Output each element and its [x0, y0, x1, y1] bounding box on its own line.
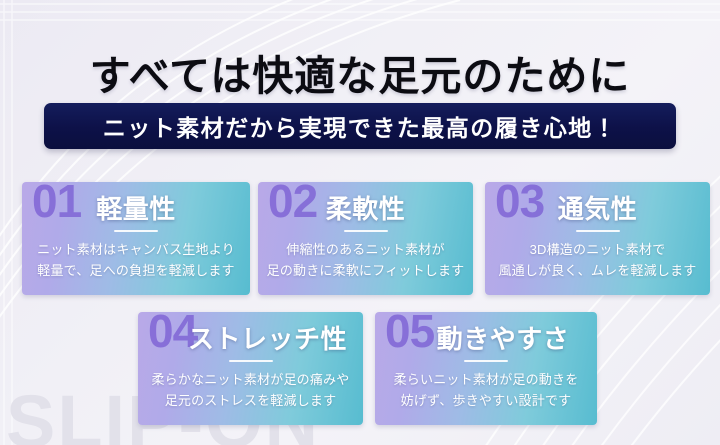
- title-divider: [229, 360, 273, 362]
- feature-card-header: 01 軽量性: [22, 182, 250, 229]
- feature-card-body-line: ニット素材はキャンバス生地より: [30, 239, 242, 260]
- feature-card-body: 3D構造のニット素材で 風通しが良く、ムレを軽減します: [485, 239, 710, 281]
- feature-card-header: 04 ストレッチ性: [138, 312, 363, 359]
- title-divider: [114, 230, 158, 232]
- feature-card-body-line: 風通しが良く、ムレを軽減します: [493, 260, 702, 281]
- feature-card: 04 ストレッチ性 柔らかなニット素材が足の痛みや 足元のストレスを軽減します: [138, 312, 363, 425]
- feature-card: 01 軽量性 ニット素材はキャンバス生地より 軽量で、足への負担を軽減します: [22, 182, 250, 295]
- feature-card-header: 03 通気性: [485, 182, 710, 229]
- feature-card: 05 動きやすさ 柔らいニット素材が足の動きを 妨げず、歩きやすい設計です: [375, 312, 597, 425]
- feature-card-title: 通気性: [485, 189, 710, 226]
- feature-card-body-line: 柔らかなニット素材が足の痛みや: [146, 369, 355, 390]
- feature-card-body: ニット素材はキャンバス生地より 軽量で、足への負担を軽減します: [22, 239, 250, 281]
- feature-card-body: 伸縮性のあるニット素材が 足の動きに柔軟にフィットします: [258, 239, 473, 281]
- feature-card: 02 柔軟性 伸縮性のあるニット素材が 足の動きに柔軟にフィットします: [258, 182, 473, 295]
- feature-card-body: 柔らいニット素材が足の動きを 妨げず、歩きやすい設計です: [375, 369, 597, 411]
- feature-card-title: ストレッチ性: [138, 319, 363, 356]
- feature-card-title: 軽量性: [22, 189, 250, 226]
- subtitle-banner-text: ニット素材だから実現できた最高の履き心地！: [103, 109, 618, 143]
- feature-card-body-line: 軽量で、足への負担を軽減します: [30, 260, 242, 281]
- feature-card-title: 動きやすさ: [375, 319, 597, 356]
- feature-card-header: 02 柔軟性: [258, 182, 473, 229]
- page-title: すべては快適な足元のために: [0, 54, 720, 99]
- title-divider: [344, 230, 388, 232]
- feature-card-body-line: 足の動きに柔軟にフィットします: [266, 260, 465, 281]
- feature-card-body-line: 3D構造のニット素材で: [493, 239, 702, 260]
- feature-card-body-line: 足元のストレスを軽減します: [146, 390, 355, 411]
- feature-card-body: 柔らかなニット素材が足の痛みや 足元のストレスを軽減します: [138, 369, 363, 411]
- feature-card-body-line: 妨げず、歩きやすい設計です: [383, 390, 589, 411]
- feature-card-body-line: 柔らいニット素材が足の動きを: [383, 369, 589, 390]
- feature-card-body-line: 伸縮性のあるニット素材が: [266, 239, 465, 260]
- feature-card: 03 通気性 3D構造のニット素材で 風通しが良く、ムレを軽減します: [485, 182, 710, 295]
- title-divider: [464, 360, 508, 362]
- subtitle-banner: ニット素材だから実現できた最高の履き心地！: [44, 103, 676, 149]
- promo-graphic: SLIP-ON すべては快適な足元のために ニット素材だから実現できた最高の履き…: [0, 0, 720, 445]
- feature-card-header: 05 動きやすさ: [375, 312, 597, 359]
- feature-card-title: 柔軟性: [258, 189, 473, 226]
- title-divider: [576, 230, 620, 232]
